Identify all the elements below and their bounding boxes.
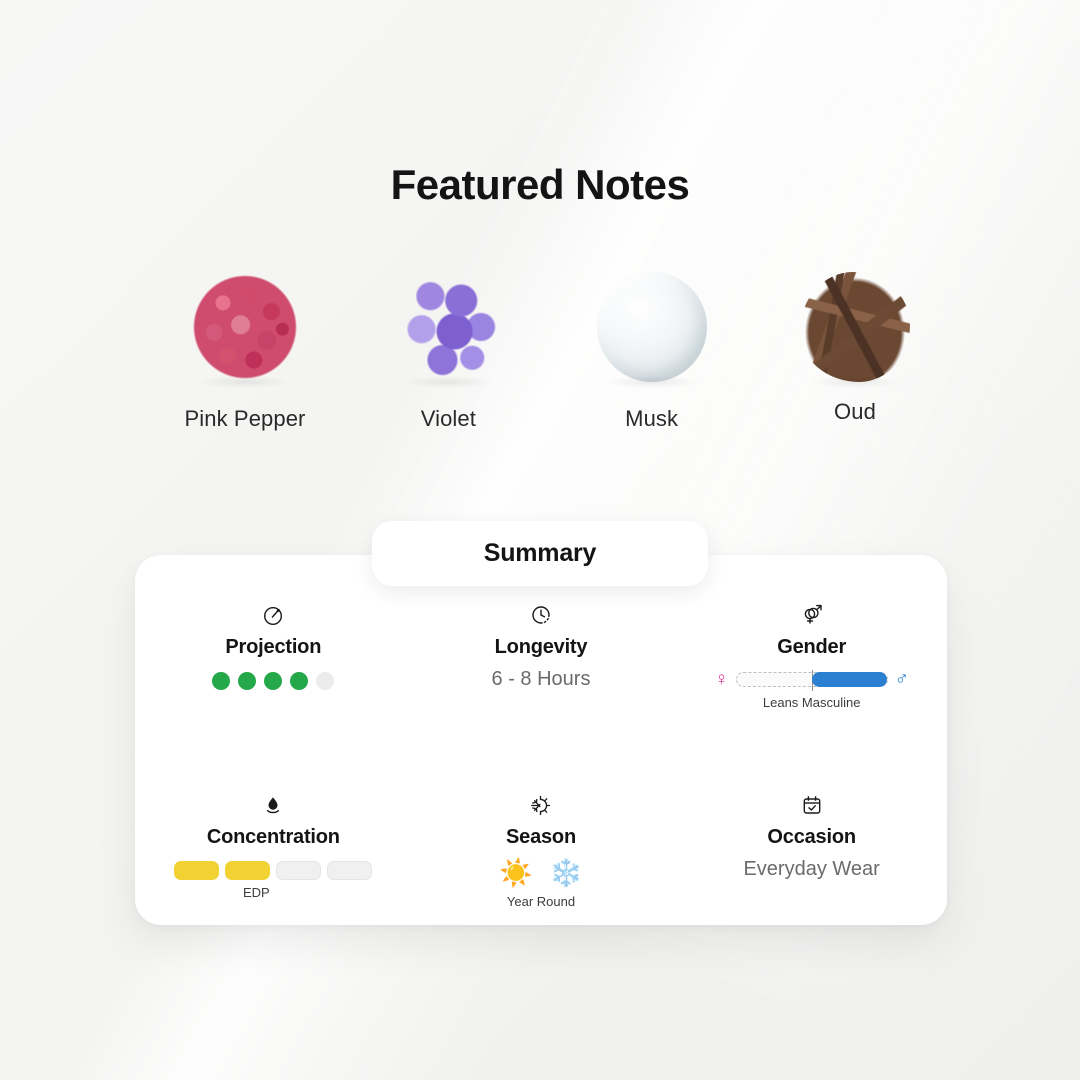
stat-title: Longevity: [495, 636, 588, 659]
concentration-segment: [276, 861, 321, 880]
musk-image: [597, 272, 707, 382]
note-item-violet[interactable]: Violet: [353, 272, 543, 432]
season-note: Year Round: [507, 894, 575, 909]
stat-title: Season: [506, 826, 576, 849]
oud-image: [800, 272, 910, 382]
stat-occasion: Occasion Everyday Wear: [676, 790, 947, 909]
stat-concentration: Concentration EDP: [135, 790, 406, 909]
stat-title: Occasion: [767, 826, 855, 849]
sun-emoji-icon: ☀️: [499, 860, 533, 887]
note-item-oud[interactable]: Oud: [760, 272, 950, 425]
stat-title: Gender: [777, 636, 846, 659]
calendar-check-icon: [800, 790, 824, 820]
projection-dot: [264, 672, 282, 690]
concentration-note: EDP: [243, 885, 270, 900]
stat-longevity: Longevity 6 - 8 Hours: [406, 600, 677, 710]
male-symbol-icon: ♂: [895, 670, 909, 689]
note-label: Musk: [625, 406, 678, 432]
stat-projection: Projection: [135, 600, 406, 710]
page-root: Featured Notes Pink Pepper Violet Musk O…: [0, 0, 1080, 1080]
page-title: Featured Notes: [0, 161, 1080, 209]
gauge-icon: [261, 600, 285, 630]
projection-dot: [316, 672, 334, 690]
note-item-musk[interactable]: Musk: [557, 272, 747, 432]
projection-dot: [212, 672, 230, 690]
concentration-segment: [225, 861, 270, 880]
summary-stats-grid: Projection Longevity 6 - 8 Hours: [135, 600, 947, 909]
concentration-segment: [174, 861, 219, 880]
gender-icon: [799, 600, 825, 630]
note-item-pink-pepper[interactable]: Pink Pepper: [150, 272, 340, 432]
violet-image: [393, 272, 503, 382]
season-emoji-row: ☀️ ❄️: [499, 860, 582, 887]
concentration-segments: [174, 861, 372, 880]
stat-value: Everyday Wear: [743, 858, 879, 881]
featured-notes-row: Pink Pepper Violet Musk Oud: [150, 272, 950, 432]
stat-title: Projection: [225, 636, 321, 659]
pink-pepper-image: [190, 272, 300, 382]
gender-slider[interactable]: ♀ ♂ Leans Masculine: [714, 670, 909, 710]
gender-note: Leans Masculine: [763, 695, 861, 710]
gender-slider-fill: [812, 672, 887, 687]
concentration-segment: [327, 861, 372, 880]
summary-pill-label: Summary: [484, 539, 597, 568]
stat-title: Concentration: [207, 826, 340, 849]
gender-slider-row: ♀ ♂: [714, 670, 909, 689]
droplet-icon: [261, 790, 285, 820]
clock-icon: [529, 600, 553, 630]
summary-pill: Summary: [372, 521, 708, 586]
gender-slider-track[interactable]: [736, 672, 888, 687]
stat-gender: Gender ♀ ♂ Leans Masculine: [676, 600, 947, 710]
projection-dot: [238, 672, 256, 690]
stat-value: 6 - 8 Hours: [492, 668, 591, 691]
snowflake-emoji-icon: ❄️: [549, 860, 583, 887]
sun-snowflake-icon: [528, 790, 553, 820]
note-label: Oud: [834, 399, 876, 425]
note-label: Violet: [421, 406, 476, 432]
note-label: Pink Pepper: [185, 406, 306, 432]
projection-dot: [290, 672, 308, 690]
female-symbol-icon: ♀: [714, 670, 728, 689]
projection-dots: [212, 672, 334, 690]
stat-season: Season ☀️ ❄️ Year Round: [406, 790, 677, 909]
